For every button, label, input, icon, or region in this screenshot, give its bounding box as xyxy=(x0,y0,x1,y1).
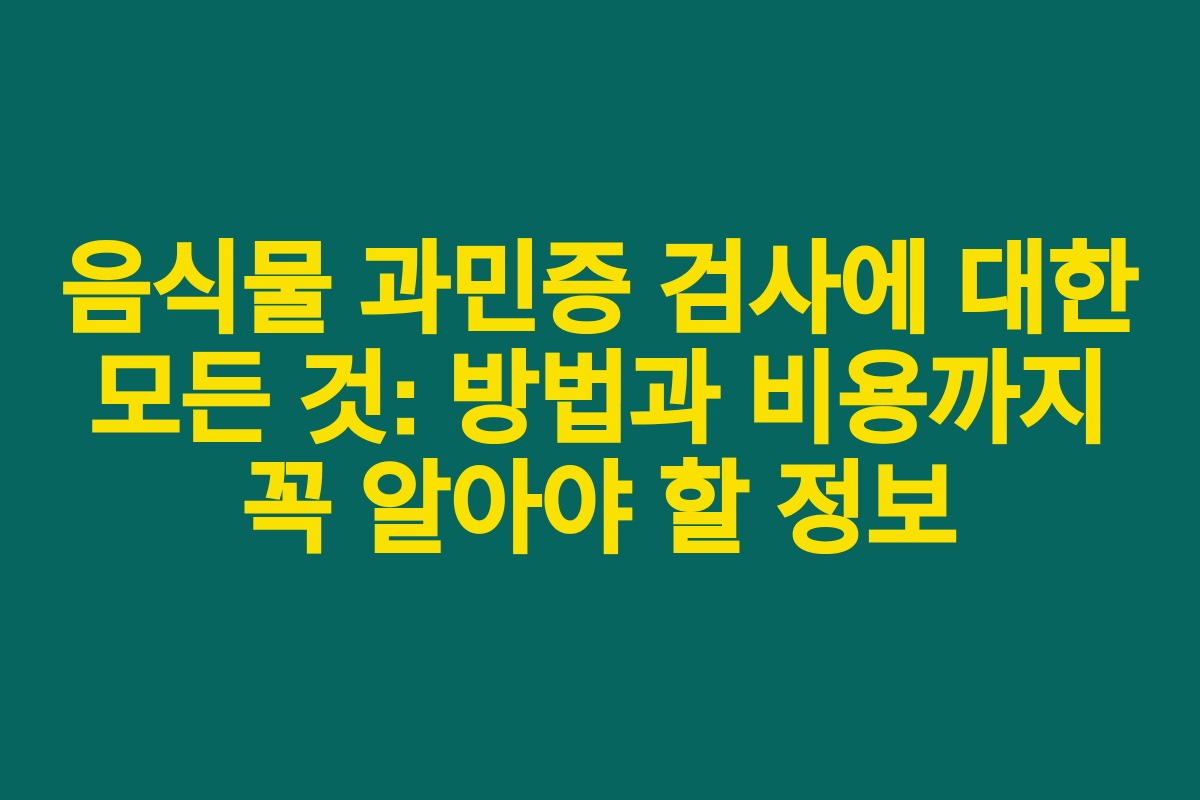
headline-line-2: 모든 것: 방법과 비용까지 xyxy=(25,344,1175,454)
headline-line-3: 꼭 알아야 할 정보 xyxy=(25,454,1175,564)
title-card: 음식물 과민증 검사에 대한 모든 것: 방법과 비용까지 꼭 알아야 할 정보 xyxy=(0,0,1200,800)
headline: 음식물 과민증 검사에 대한 모든 것: 방법과 비용까지 꼭 알아야 할 정보 xyxy=(25,234,1175,564)
headline-line-1: 음식물 과민증 검사에 대한 xyxy=(25,234,1175,344)
